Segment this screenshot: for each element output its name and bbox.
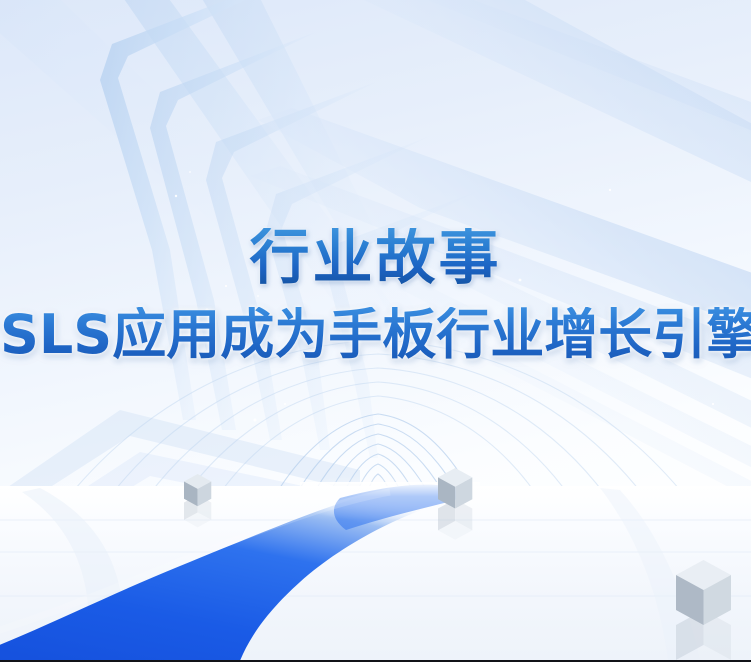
poster-banner: 行业故事 SLS应用成为手板行业增长引擎 [0, 0, 751, 662]
tunnel-background-art [0, 0, 751, 660]
floating-cube-small-left [184, 474, 211, 527]
floating-cube-large-right [676, 560, 731, 660]
